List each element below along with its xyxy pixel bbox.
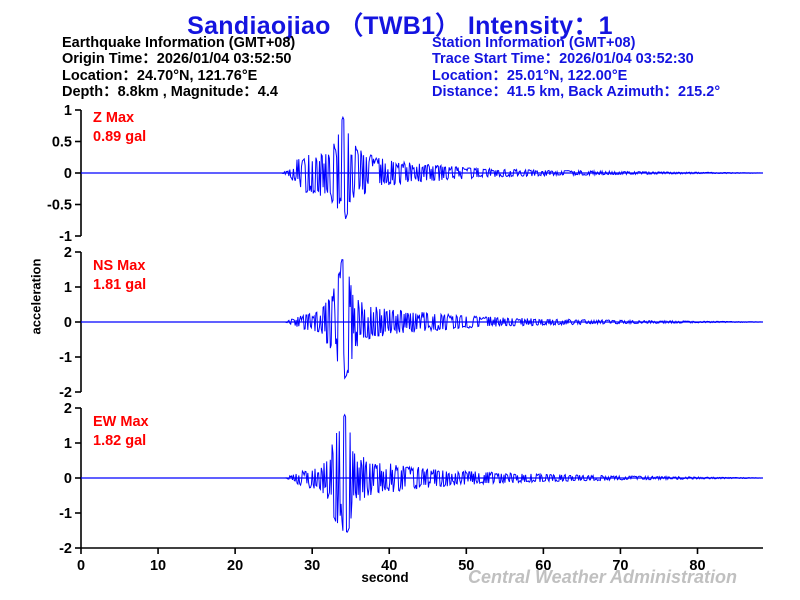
y-tick-label-ew-1: 1 (64, 436, 72, 452)
waveform-trace-z (81, 117, 763, 219)
y-tick-label-ns-0: 2 (64, 245, 72, 261)
y-tick-label-z-4: -1 (59, 229, 72, 245)
y-tick-label-ns-2: 0 (64, 315, 72, 331)
x-tick-label-2: 20 (227, 558, 243, 574)
y-tick-label-ew-4: -2 (59, 541, 72, 557)
y-tick-label-ew-3: -1 (59, 506, 72, 522)
y-tick-label-z-0: 1 (64, 103, 72, 119)
x-tick-label-1: 10 (150, 558, 166, 574)
x-tick-label-3: 30 (304, 558, 320, 574)
panel-ns: 210-1-2 (59, 245, 763, 401)
y-tick-label-ew-2: 0 (64, 471, 72, 487)
agency-watermark: Central Weather Administration (468, 567, 737, 588)
y-tick-label-ew-0: 2 (64, 401, 72, 417)
y-tick-label-z-2: 0 (64, 166, 72, 182)
waveform-trace-ns (81, 260, 763, 379)
seismogram-plot: 10.50-0.5-1210-1-2210-1-2010203040506070… (0, 0, 800, 600)
waveform-trace-ew (81, 415, 763, 532)
y-tick-label-z-1: 0.5 (52, 135, 72, 151)
panel-ew: 210-1-2 (59, 401, 763, 557)
x-tick-label-0: 0 (77, 558, 85, 574)
y-tick-label-z-3: -0.5 (47, 198, 72, 214)
x-axis-label: second (340, 570, 430, 585)
y-tick-label-ns-1: 1 (64, 280, 72, 296)
panel-z: 10.50-0.5-1 (47, 103, 763, 245)
y-tick-label-ns-3: -1 (59, 350, 72, 366)
y-tick-label-ns-4: -2 (59, 385, 72, 401)
seismogram-page: Sandiaojiao （TWB1） Intensity：1 Earthquak… (0, 0, 800, 600)
